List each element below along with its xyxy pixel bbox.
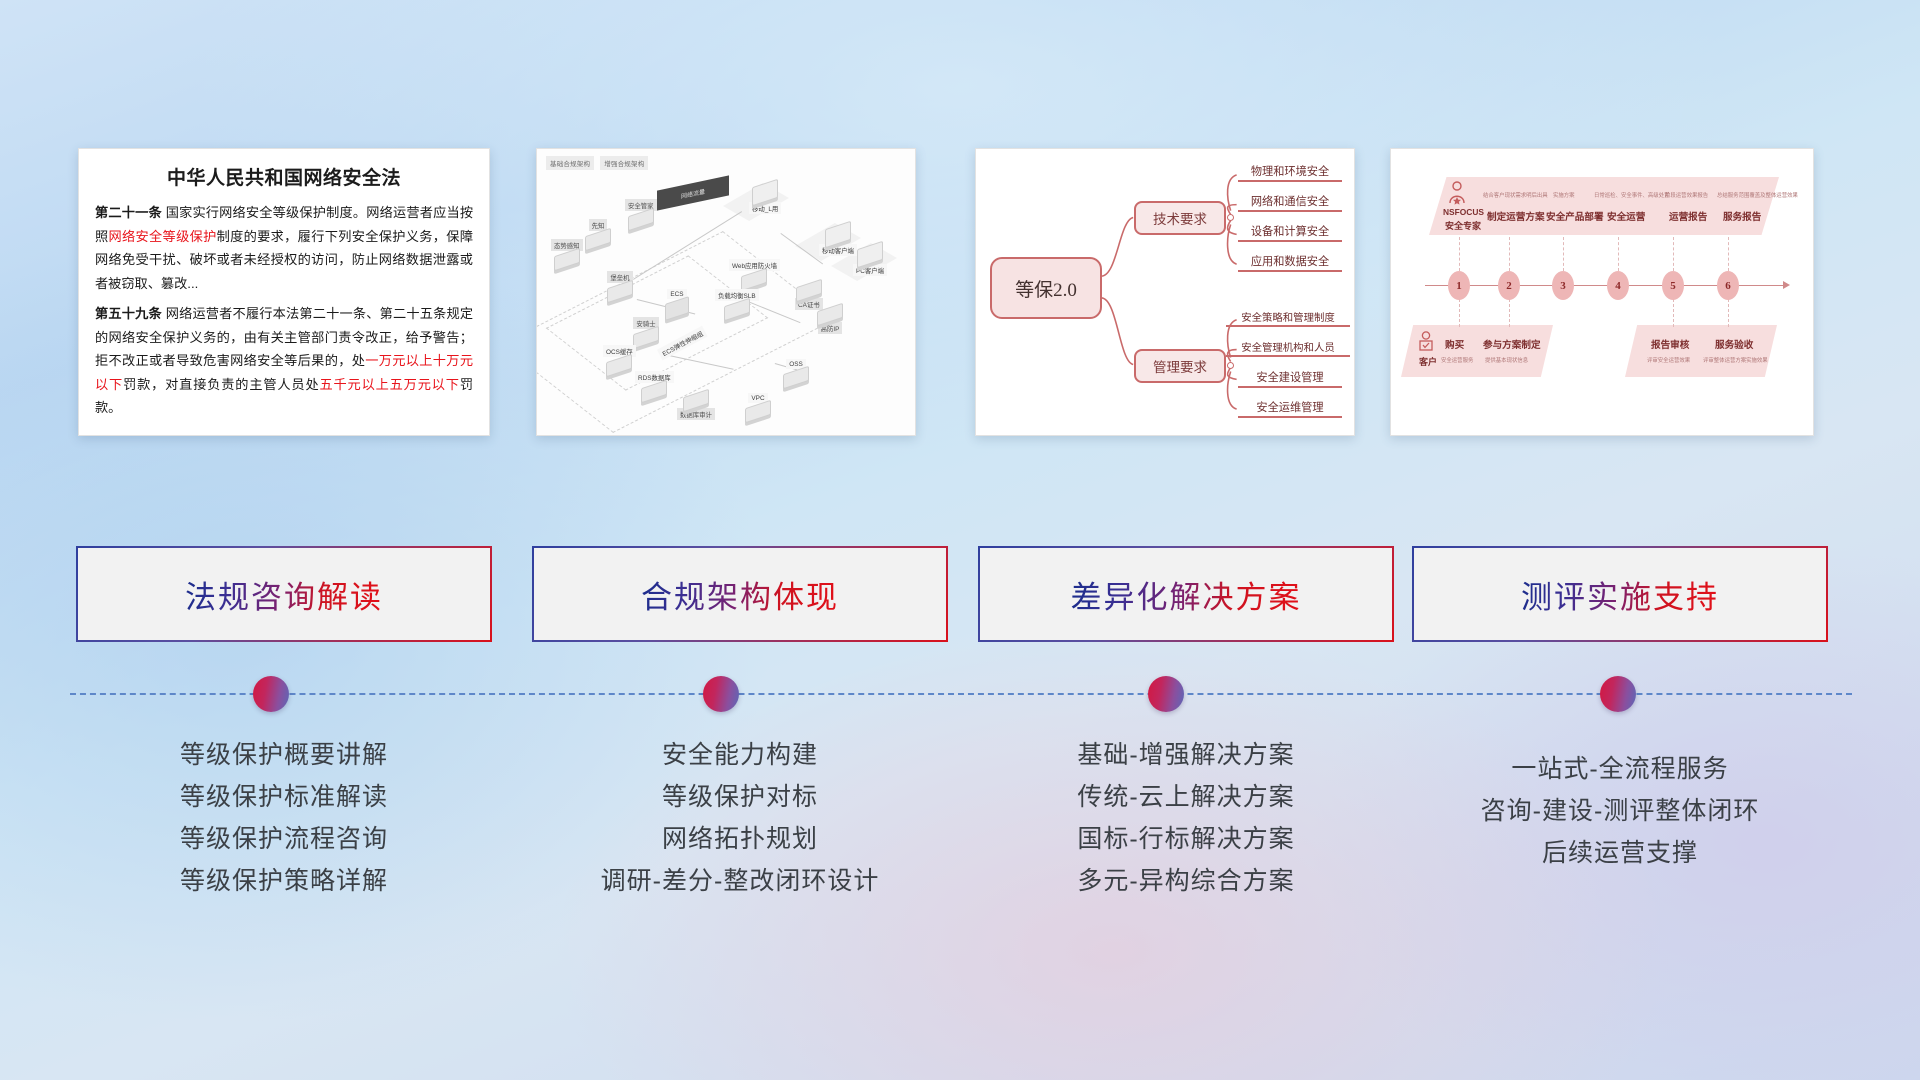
process-step-main: 制定运营方案 bbox=[1487, 209, 1545, 223]
architecture-dark-chip: 网络流量 bbox=[657, 175, 729, 210]
architecture-diagram: 基础合规架构 增强合规架构 网络流量 安全管家 先知 态势感知 堡垒机 ECS … bbox=[537, 149, 915, 435]
law-title: 中华人民共和国网络安全法 bbox=[95, 163, 473, 190]
title-inner: 法规咨询解读 bbox=[78, 548, 490, 640]
mindmap-screenshot-card[interactable]: 等保2.0 技术要求 物理和环境安全 网络和通信安全 设备和计算安全 应用和数据… bbox=[975, 148, 1355, 436]
mindmap-leaf[interactable]: 网络和通信安全 bbox=[1238, 193, 1342, 212]
mindmap-branch-technical[interactable]: 技术要求 bbox=[1134, 201, 1226, 235]
server-icon bbox=[585, 228, 611, 251]
process-step-sub: 实施方案 bbox=[1553, 191, 1575, 199]
architecture-screenshot-card[interactable]: 基础合规架构 增强合规架构 网络流量 安全管家 先知 态势感知 堡垒机 ECS … bbox=[536, 148, 916, 436]
title-text: 差异化解决方案 bbox=[1071, 572, 1302, 617]
process-step-number[interactable]: 1 bbox=[1448, 271, 1470, 300]
architecture-node[interactable]: VPC bbox=[745, 393, 771, 419]
architecture-node[interactable]: Web应用防火墙 bbox=[729, 259, 780, 287]
process-step-sub: 评审安全运营效果 bbox=[1647, 356, 1690, 364]
node-label: Web应用防火墙 bbox=[729, 259, 780, 271]
title-inner: 差异化解决方案 bbox=[980, 548, 1392, 640]
process-step-main: 服务报告 bbox=[1723, 209, 1761, 223]
list-item: 传统-云上解决方案 bbox=[978, 776, 1394, 818]
node-label: RDS数据库 bbox=[635, 371, 674, 383]
list-item: 等级保护标准解读 bbox=[76, 776, 492, 818]
timeline bbox=[0, 668, 1920, 720]
mindmap-leaf[interactable]: 安全策略和管理制度 bbox=[1226, 309, 1350, 327]
server-icon bbox=[628, 208, 654, 231]
law-content: 中华人民共和国网络安全法 第二十一条 国家实行网络安全等级保护制度。网络运营者应… bbox=[79, 149, 489, 435]
architecture-node[interactable]: 数据库审计 bbox=[677, 393, 715, 421]
timeline-dot-2[interactable] bbox=[703, 676, 739, 712]
law-seg-highlight: 网络安全等级保护 bbox=[109, 229, 217, 244]
timeline-dot-4[interactable] bbox=[1600, 676, 1636, 712]
process-step-main: 安全运营 bbox=[1607, 209, 1645, 223]
list-item: 基础-增强解决方案 bbox=[978, 734, 1394, 776]
mindmap: 等保2.0 技术要求 物理和环境安全 网络和通信安全 设备和计算安全 应用和数据… bbox=[976, 149, 1354, 435]
process-step-sub: 安全运营服务 bbox=[1441, 356, 1473, 364]
customer-label: 客户 bbox=[1419, 355, 1437, 368]
expert-label-line2: 安全专家 bbox=[1445, 219, 1481, 232]
architecture-tab-enhanced[interactable]: 增强合规架构 bbox=[600, 156, 648, 170]
process-band-customer-right bbox=[1625, 325, 1777, 377]
mindmap-leaf[interactable]: 安全建设管理 bbox=[1238, 369, 1342, 388]
vpc-icon bbox=[745, 400, 771, 423]
process-step-main: 运营报告 bbox=[1669, 209, 1707, 223]
law-seg: 罚款，对直接负责的主管人员处 bbox=[123, 377, 319, 392]
architecture-tabs: 基础合规架构 增强合规架构 bbox=[546, 156, 648, 170]
architecture-tab-basic[interactable]: 基础合规架构 bbox=[546, 156, 594, 170]
process-step-number[interactable]: 6 bbox=[1717, 271, 1739, 300]
mindmap-collapse-dot-icon[interactable] bbox=[1227, 214, 1234, 221]
process-connector bbox=[1618, 237, 1619, 271]
list-item: 国标-行标解决方案 bbox=[978, 818, 1394, 860]
architecture-node[interactable]: 态势感知 bbox=[551, 239, 583, 267]
law-paragraph-21: 第二十一条 国家实行网络安全等级保护制度。网络运营者应当按照网络安全等级保护制度… bbox=[95, 201, 473, 295]
title-box-regulation-consulting[interactable]: 法规咨询解读 bbox=[76, 546, 492, 642]
process-step-sub: 评审整体运营方案实施效果 bbox=[1703, 356, 1768, 364]
process-step-sub: 日常巡检、安全事件、高级处置 bbox=[1594, 191, 1669, 199]
process-step-number[interactable]: 2 bbox=[1498, 271, 1520, 300]
mindmap-collapse-dot-icon[interactable] bbox=[1227, 362, 1234, 369]
title-box-row: 法规咨询解读 合规架构体现 差异化解决方案 测评实施支持 bbox=[0, 546, 1920, 642]
law-article-label-59: 第五十九条 bbox=[95, 306, 162, 321]
process-connector bbox=[1459, 237, 1460, 271]
process-connector bbox=[1509, 237, 1510, 271]
node-label: 负载均衡SLB bbox=[715, 289, 759, 301]
title-text: 法规咨询解读 bbox=[185, 572, 383, 617]
architecture-node[interactable]: ECS bbox=[665, 289, 689, 317]
title-text: 测评实施支持 bbox=[1521, 572, 1719, 617]
screenshot-card-row: 中华人民共和国网络安全法 第二十一条 国家实行网络安全等级保护制度。网络运营者应… bbox=[0, 148, 1920, 448]
timeline-dot-1[interactable] bbox=[253, 676, 289, 712]
detail-list-row: 等级保护概要讲解 等级保护标准解读 等级保护流程咨询 等级保护策略详解 安全能力… bbox=[0, 734, 1920, 974]
process-step-number[interactable]: 4 bbox=[1607, 271, 1629, 300]
list-item: 网络拓扑规划 bbox=[532, 818, 948, 860]
title-box-differentiated-solution[interactable]: 差异化解决方案 bbox=[978, 546, 1394, 642]
title-inner: 合规架构体现 bbox=[534, 548, 946, 640]
customer-person-icon bbox=[1417, 331, 1435, 358]
mindmap-leaf[interactable]: 安全管理机构和人员 bbox=[1226, 339, 1350, 357]
detail-list-differentiated-solution: 基础-增强解决方案 传统-云上解决方案 国标-行标解决方案 多元-异构综合方案 bbox=[978, 734, 1394, 902]
process-step-sub: 结合客户现状需求明后出具 bbox=[1483, 191, 1548, 199]
process-step-main: 购买 bbox=[1445, 337, 1464, 351]
process-connector bbox=[1728, 237, 1729, 271]
title-box-assessment-support[interactable]: 测评实施支持 bbox=[1412, 546, 1828, 642]
timeline-dashed-line bbox=[70, 693, 1852, 695]
law-screenshot-card[interactable]: 中华人民共和国网络安全法 第二十一条 国家实行网络安全等级保护制度。网络运营者应… bbox=[78, 148, 490, 436]
detail-list-compliance-architecture: 安全能力构建 等级保护对标 网络拓扑规划 调研-差分-整改闭环设计 bbox=[532, 734, 948, 902]
mindmap-leaf[interactable]: 应用和数据安全 bbox=[1238, 253, 1342, 272]
process-connector bbox=[1459, 299, 1460, 327]
process-connector bbox=[1563, 237, 1564, 271]
list-item: 一站式-全流程服务 bbox=[1412, 748, 1828, 790]
title-box-compliance-architecture[interactable]: 合规架构体现 bbox=[532, 546, 948, 642]
process-step-number[interactable]: 3 bbox=[1552, 271, 1574, 300]
list-item: 咨询-建设-测评整体闭环 bbox=[1412, 790, 1828, 832]
architecture-node[interactable]: 负载均衡SLB bbox=[715, 289, 759, 317]
law-article-label-21: 第二十一条 bbox=[95, 205, 162, 220]
expert-person-icon bbox=[1447, 181, 1467, 210]
law-paragraph-59: 第五十九条 网络运营者不履行本法第二十一条、第二十五条规定的网络安全保护义务的，… bbox=[95, 302, 473, 420]
architecture-node[interactable]: 堡垒机 bbox=[607, 271, 633, 299]
list-item: 后续运营支撑 bbox=[1412, 832, 1828, 874]
expert-label-line1: NSFOCUS bbox=[1443, 207, 1484, 217]
architecture-node[interactable]: PC客户端 bbox=[853, 245, 887, 277]
mindmap-leaf[interactable]: 设备和计算安全 bbox=[1238, 223, 1342, 242]
architecture-node[interactable]: 高防IP bbox=[817, 307, 843, 335]
mindmap-leaf[interactable]: 物理和环境安全 bbox=[1238, 163, 1342, 182]
law-seg-highlight: 五千元以上五万元以下 bbox=[320, 377, 460, 392]
process-screenshot-card[interactable]: NSFOCUS 安全专家 结合客户现状需求明后出具 制定运营方案 实施方案 安全… bbox=[1390, 148, 1814, 436]
list-item: 等级保护流程咨询 bbox=[76, 818, 492, 860]
architecture-node[interactable]: RDS数据库 bbox=[635, 371, 674, 399]
process-step-number[interactable]: 5 bbox=[1662, 271, 1684, 300]
process-step-main: 服务验收 bbox=[1715, 337, 1753, 351]
detail-list-assessment-support: 一站式-全流程服务 咨询-建设-测评整体闭环 后续运营支撑 bbox=[1412, 748, 1828, 874]
process-step-sub: 总结服务范围覆盖及整体运营效果 bbox=[1717, 191, 1798, 199]
process-band-expert bbox=[1429, 177, 1779, 235]
architecture-node[interactable]: OCS缓存 bbox=[603, 345, 636, 373]
title-inner: 测评实施支持 bbox=[1414, 548, 1826, 640]
process-connector bbox=[1728, 299, 1729, 327]
process-connector bbox=[1673, 299, 1674, 327]
title-text: 合规架构体现 bbox=[641, 572, 839, 617]
process-connector bbox=[1673, 237, 1674, 271]
mindmap-root-node[interactable]: 等保2.0 bbox=[990, 257, 1102, 319]
architecture-node[interactable]: 移动客户端 bbox=[819, 225, 857, 257]
architecture-node[interactable]: OSS bbox=[783, 359, 809, 385]
process-connector bbox=[1509, 299, 1510, 327]
storage-icon bbox=[783, 366, 809, 389]
mindmap-branch-management[interactable]: 管理要求 bbox=[1134, 349, 1226, 383]
architecture-node[interactable]: 先知 bbox=[585, 219, 611, 247]
list-item: 等级保护概要讲解 bbox=[76, 734, 492, 776]
list-item: 调研-差分-整改闭环设计 bbox=[532, 860, 948, 902]
list-item: 多元-异构综合方案 bbox=[978, 860, 1394, 902]
list-item: 安全能力构建 bbox=[532, 734, 948, 776]
process-step-main: 报告审核 bbox=[1651, 337, 1689, 351]
process-step-main: 参与方案制定 bbox=[1483, 337, 1541, 351]
timeline-dot-3[interactable] bbox=[1148, 676, 1184, 712]
process-step-main: 安全产品部署 bbox=[1546, 209, 1604, 223]
process-step-sub: 阶段运营效果报告 bbox=[1665, 191, 1708, 199]
detail-list-regulation-consulting: 等级保护概要讲解 等级保护标准解读 等级保护流程咨询 等级保护策略详解 bbox=[76, 734, 492, 902]
process-axis-arrow-icon bbox=[1783, 281, 1790, 289]
mindmap-leaf[interactable]: 安全运维管理 bbox=[1238, 399, 1342, 418]
list-item: 等级保护对标 bbox=[532, 776, 948, 818]
architecture-node[interactable]: 移动_L用 bbox=[749, 183, 781, 215]
process-step-sub: 提供基本现状信息 bbox=[1485, 356, 1528, 364]
architecture-node[interactable]: 安全管家 bbox=[625, 199, 657, 227]
list-item: 等级保护策略详解 bbox=[76, 860, 492, 902]
process-diagram: NSFOCUS 安全专家 结合客户现状需求明后出具 制定运营方案 实施方案 安全… bbox=[1391, 149, 1813, 435]
architecture-node[interactable]: 安骑士 bbox=[633, 317, 659, 345]
server-icon bbox=[554, 248, 580, 271]
